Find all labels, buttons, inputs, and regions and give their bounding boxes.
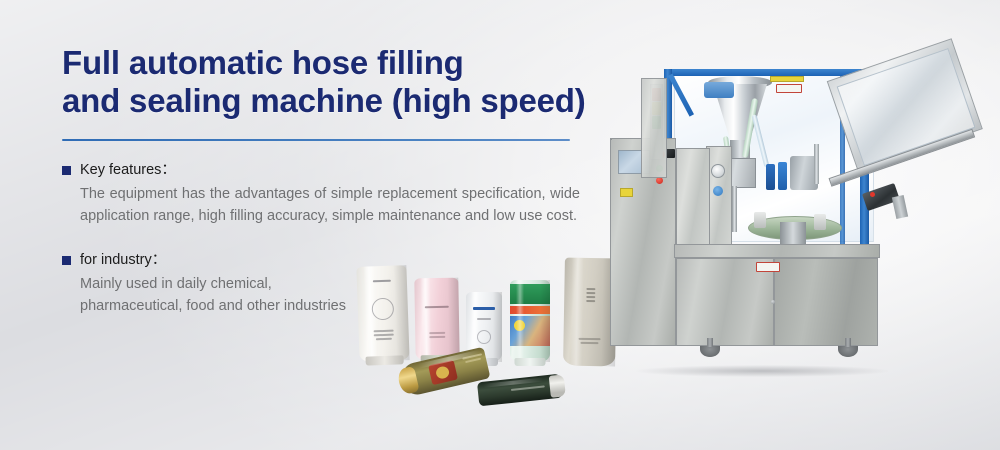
product-tube-pink (414, 278, 459, 361)
feature-label: Key features： (80, 161, 176, 179)
machine-door-handle[interactable] (771, 300, 775, 304)
feature-body: Mainly used in daily chemical, pharmaceu… (80, 273, 352, 317)
machine-frame-top-beam (664, 69, 868, 76)
machine-hopper-collar (704, 82, 734, 98)
machine-ce-label (620, 188, 633, 197)
machine-foot-left (700, 346, 720, 357)
title-line-1: Full automatic hose filling (62, 44, 582, 82)
machine-arm-vertical (814, 144, 819, 184)
bullet-square-icon (62, 256, 71, 265)
machine-conveyor-indicator-light (870, 192, 875, 197)
product-banner: Full automatic hose filling and sealing … (0, 0, 1000, 450)
machine-gauge-knob (713, 186, 723, 196)
machine-pressure-gauge (711, 164, 725, 178)
product-tube-green-sunplay (510, 280, 550, 362)
machine-sensor-blue-1 (766, 164, 775, 190)
machine-nozzle-shaft (732, 186, 737, 232)
feature-label: for industry： (80, 251, 166, 269)
machine-upper-left-panel (641, 78, 667, 178)
machine-stop-button[interactable] (656, 177, 663, 184)
feature-heading-row: Key features： (62, 161, 582, 179)
machine-tube-holder-2 (814, 214, 826, 230)
feature-block-key-features: Key features： The equipment has the adva… (62, 161, 582, 227)
product-tube-dark-green (477, 374, 563, 407)
machine-base-door-right[interactable] (774, 258, 878, 346)
product-tubes-group (352, 252, 604, 427)
machine-selector-switch[interactable] (666, 149, 675, 158)
title-line-2: and sealing machine (high speed) (62, 82, 582, 120)
machine-warning-sticker-mid (776, 84, 802, 93)
machine-shadow (636, 365, 888, 377)
machine-base-left-door[interactable] (610, 138, 612, 140)
machine-sensor-blue-2 (778, 162, 787, 190)
machine-conveyor-support (892, 195, 908, 219)
machine-foot-right (838, 346, 858, 357)
machine-photo (608, 36, 988, 381)
title-divider (62, 139, 570, 141)
machine-mid-side-panel (676, 148, 710, 246)
machine-tube-holder-1 (754, 212, 766, 228)
machine-base-deck (674, 244, 880, 258)
machine-no-entry-sticker (756, 262, 780, 272)
machine-warning-sticker-top (770, 76, 804, 82)
page-title: Full automatic hose filling and sealing … (62, 44, 582, 120)
feature-body: The equipment has the advantages of simp… (80, 183, 580, 227)
bullet-square-icon (62, 166, 71, 175)
product-tube-white-floral (356, 265, 409, 362)
